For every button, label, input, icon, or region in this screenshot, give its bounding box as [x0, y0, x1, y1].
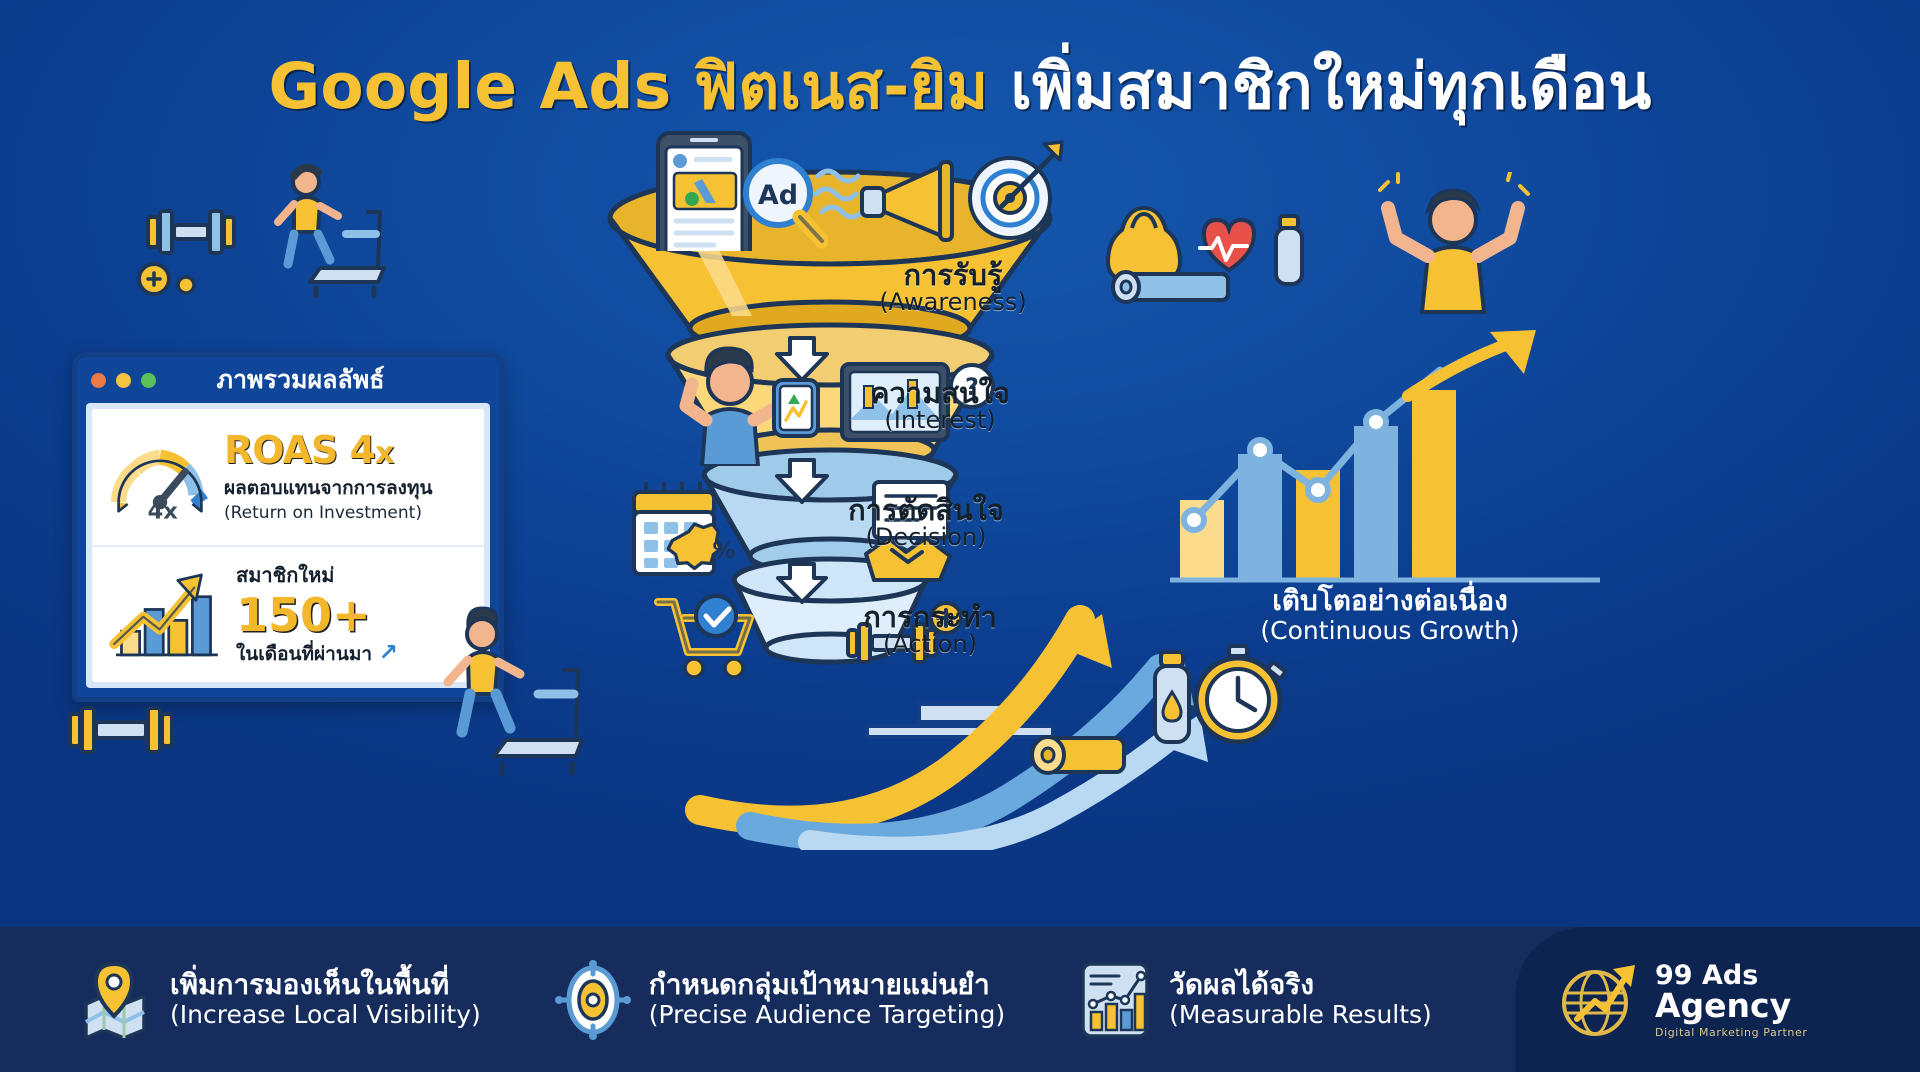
map-pin-icon — [78, 960, 152, 1040]
logo-line-2: Agency — [1655, 989, 1807, 1022]
title-part-white: เพิ่มสมาชิกใหม่ทุกเดือน — [1010, 50, 1651, 123]
globe-arrow-icon — [1555, 957, 1641, 1043]
feature-label-th: กำหนดกลุ่มเป้าหมายแม่นยำ — [649, 970, 1005, 1001]
phone-ad-icon: Ad — [628, 131, 828, 251]
infographic-canvas: Google Ads ฟิตเนส-ยิม เพิ่มสมาชิกใหม่ทุก… — [0, 0, 1920, 1072]
gauge-icon: 4x — [106, 431, 214, 523]
close-dot[interactable] — [91, 373, 106, 388]
footer-feature-local-visibility[interactable]: เพิ่มการมองเห็นในพื้นที่ (Increase Local… — [78, 960, 481, 1040]
feature-label-en: (Precise Audience Targeting) — [649, 1001, 1005, 1029]
funnel-label-interest: ความสนใจ (Interest) — [828, 378, 1052, 433]
dashboard-titlebar: ภาพรวมผลลัพธ์ — [77, 357, 499, 403]
megaphone-icon — [814, 140, 1064, 260]
members-value: 150+ — [236, 591, 398, 639]
target-icon — [970, 142, 1062, 238]
water-bottle-icon — [1125, 640, 1325, 780]
person-smartwatch-icon — [676, 346, 836, 466]
roas-label-th: ผลตอบแทนจากการลงทุน — [224, 473, 432, 503]
minimize-dot[interactable] — [116, 373, 131, 388]
maximize-dot[interactable] — [141, 373, 156, 388]
members-period-label: ในเดือนที่ผ่านมา ↗ — [236, 639, 398, 669]
growth-caption-th: เติบโตอย่างต่อเนื่อง — [1180, 585, 1600, 617]
brand-logo[interactable]: 99 Ads Agency Digital Marketing Partner — [1515, 927, 1920, 1072]
growth-chart — [1160, 330, 1620, 590]
roas-headline: ROAS 4x — [224, 431, 432, 469]
footer-feature-audience-targeting[interactable]: กำหนดกลุ่มเป้าหมายแม่นยำ (Precise Audien… — [555, 960, 1005, 1040]
dashboard-title: ภาพรวมผลลัพธ์ — [156, 360, 445, 400]
smartwatch-icon — [774, 380, 818, 436]
kpi-roas: 4x ROAS 4x ผลตอบแทนจากการลงทุน (Return o… — [92, 409, 484, 547]
feature-label-en: (Increase Local Visibility) — [170, 1001, 481, 1029]
dumbbell-icon — [130, 195, 250, 300]
feature-label-th: เพิ่มการมองเห็นในพื้นที่ — [170, 970, 481, 1001]
runner-treadmill-icon — [420, 598, 600, 778]
logo-line-1: 99 Ads — [1655, 962, 1807, 989]
dumbbell-icon — [62, 696, 188, 766]
strong-person-icon — [1368, 172, 1538, 342]
footer-feature-measurable-results[interactable]: วัดผลได้จริง (Measurable Results) — [1079, 960, 1432, 1040]
runner-treadmill-icon — [248, 150, 398, 300]
stopwatch-icon — [1196, 646, 1286, 742]
feature-label-en: (Measurable Results) — [1169, 1001, 1432, 1029]
page-title: Google Ads ฟิตเนส-ยิม เพิ่มสมาชิกใหม่ทุก… — [0, 36, 1920, 136]
yoga-mat-roll-icon — [1020, 720, 1140, 800]
analytics-chart-icon — [1079, 960, 1151, 1040]
title-part-yellow: Google Ads ฟิตเนส-ยิม — [268, 50, 1010, 123]
logo-tagline: Digital Marketing Partner — [1655, 1027, 1807, 1038]
funnel-label-decision: การตัดสินใจ (Decision) — [806, 495, 1046, 550]
svg-text:4x: 4x — [148, 498, 179, 523]
members-lead-label: สมาชิกใหม่ — [236, 559, 398, 591]
svg-text:Ad: Ad — [758, 180, 798, 211]
growth-caption: เติบโตอย่างต่อเนื่อง (Continuous Growth) — [1180, 585, 1600, 646]
funnel-label-awareness: การรับรู้ (Awareness) — [848, 260, 1058, 315]
yoga-mat-icon — [1098, 252, 1258, 322]
magnifier-ad-icon: Ad — [746, 161, 822, 241]
footer-bar: เพิ่มการมองเห็นในพื้นที่ (Increase Local… — [0, 927, 1920, 1072]
growth-bars-icon — [106, 564, 226, 664]
feature-label-th: วัดผลได้จริง — [1169, 970, 1432, 1001]
roas-label-en: (Return on Investment) — [224, 503, 432, 523]
window-traffic-lights[interactable] — [91, 373, 156, 388]
trend-up-arrow-icon: ↗ — [379, 640, 398, 666]
water-bottle-icon — [1276, 216, 1302, 284]
crosshair-target-icon — [555, 960, 631, 1040]
